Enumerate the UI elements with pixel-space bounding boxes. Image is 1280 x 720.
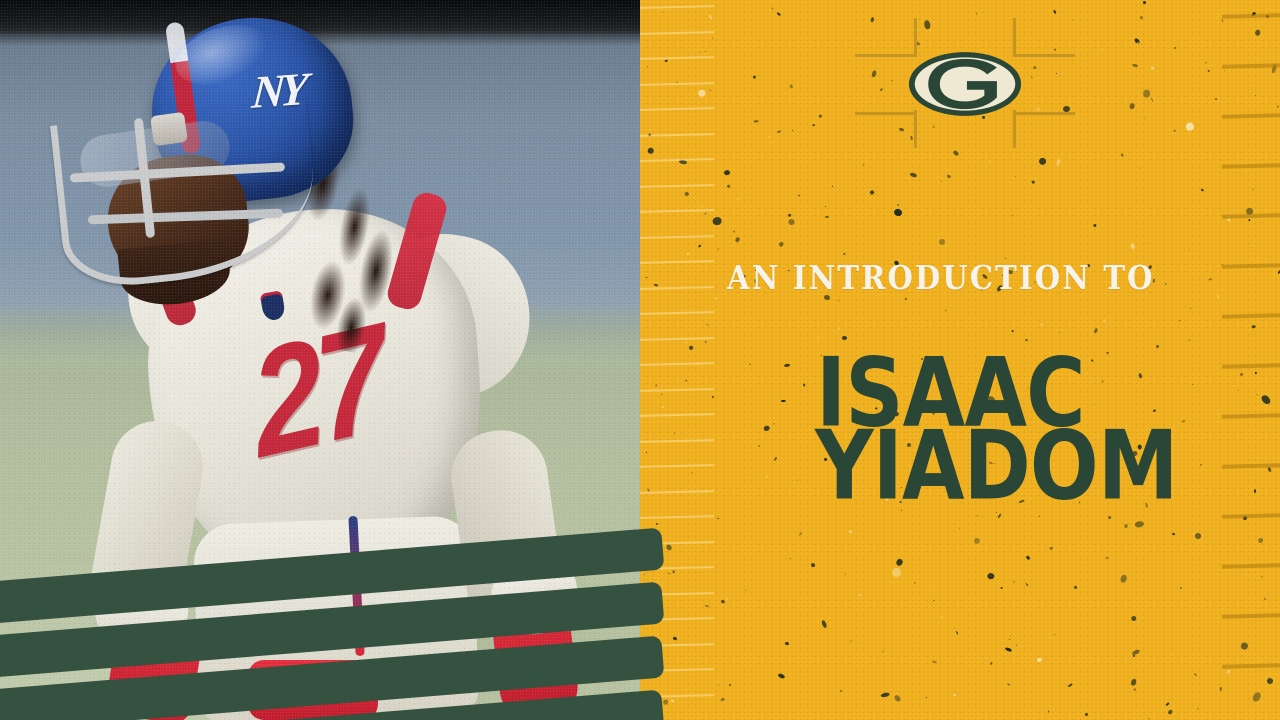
player-photo: 27 NY	[0, 0, 641, 720]
gold-panel: AN INTRODUCTION TO ISAAC YIADOM	[640, 0, 1280, 720]
player-figure: 27 NY	[0, 0, 641, 720]
player-legs	[248, 660, 378, 720]
player-name-line2: YIADOM	[815, 425, 1177, 507]
social-graphic-canvas: 27 NY	[0, 0, 1280, 720]
logo-lockup	[855, 18, 1075, 148]
yard-ticks-right	[1222, 0, 1280, 720]
yard-ticks-left	[640, 0, 714, 720]
kicker-text: AN INTRODUCTION TO	[727, 258, 1155, 297]
packers-g-logo-icon	[907, 50, 1023, 118]
